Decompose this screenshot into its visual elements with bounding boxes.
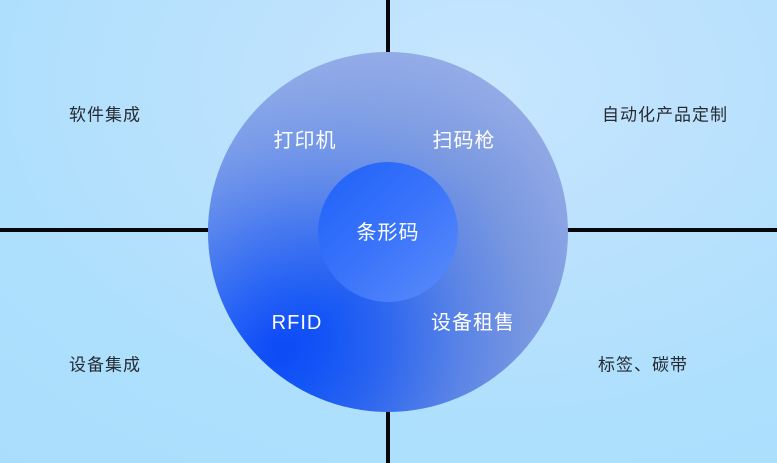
quadrant-label-printer: 打印机 xyxy=(274,131,337,151)
outer-label-equipment-integration: 设备集成 xyxy=(69,357,141,374)
outer-label-labels-and-ribbons: 标签、碳带 xyxy=(598,357,688,374)
quadrant-label-rfid: RFID xyxy=(272,313,323,333)
diagram-canvas: 打印机 扫码枪 RFID 设备租售 条形码 软件集成 自动化产品定制 设备集成 … xyxy=(0,0,777,463)
outer-label-automation-customization: 自动化产品定制 xyxy=(602,107,728,124)
center-label-barcode: 条形码 xyxy=(357,223,420,243)
outer-label-software-integration: 软件集成 xyxy=(69,107,141,124)
quadrant-label-equipment-rental: 设备租售 xyxy=(431,313,515,333)
quadrant-label-scanner: 扫码枪 xyxy=(433,131,496,151)
